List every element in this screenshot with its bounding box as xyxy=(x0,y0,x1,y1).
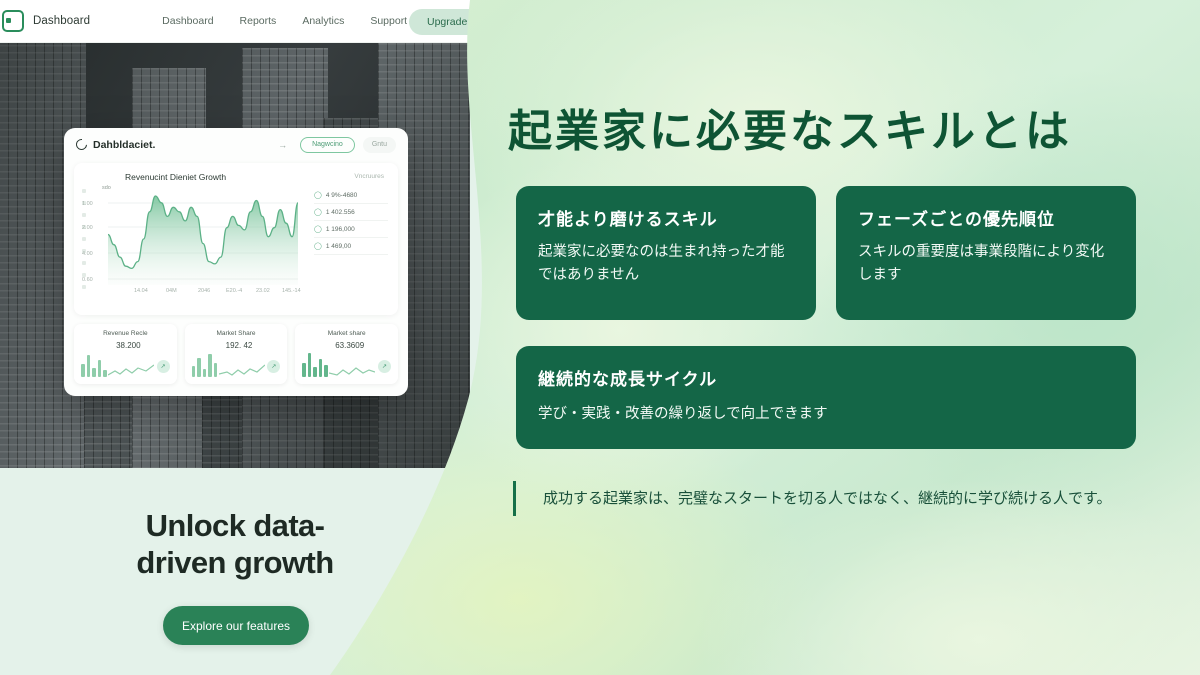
page-title: 起業家に必要なスキルとは xyxy=(508,95,1128,159)
feature-card-1-title: 才能より磨けるスキル xyxy=(538,205,794,230)
feature-card-3-title: 継続的な成長サイクル xyxy=(538,365,1114,390)
right-content-panel: 起業家に必要なスキルとは 才能より磨けるスキル 起業家に必要なのは生まれ持った才… xyxy=(0,0,1200,675)
feature-card-3: 継続的な成長サイクル 学び・実践・改善の繰り返しで向上できます xyxy=(516,346,1136,449)
feature-card-2: フェーズごとの優先順位 スキルの重要度は事業段階により変化します xyxy=(836,186,1136,320)
quote-text: 成功する起業家は、完璧なスタートを切る人ではなく、継続的に学び続ける人です。 xyxy=(543,485,1138,512)
feature-card-1: 才能より磨けるスキル 起業家に必要なのは生まれ持った才能ではありません xyxy=(516,186,816,320)
feature-card-2-body: スキルの重要度は事業段階により変化します xyxy=(858,241,1114,288)
feature-card-1-body: 起業家に必要なのは生まれ持った才能ではありません xyxy=(538,241,794,288)
right-content: 起業家に必要なスキルとは 才能より磨けるスキル 起業家に必要なのは生まれ持った才… xyxy=(0,0,1200,675)
feature-card-3-body: 学び・実践・改善の繰り返しで向上できます xyxy=(538,403,1114,426)
feature-card-2-title: フェーズごとの優先順位 xyxy=(858,205,1114,230)
quote-block: 成功する起業家は、完璧なスタートを切る人ではなく、継続的に学び続ける人です。 xyxy=(513,481,1138,516)
